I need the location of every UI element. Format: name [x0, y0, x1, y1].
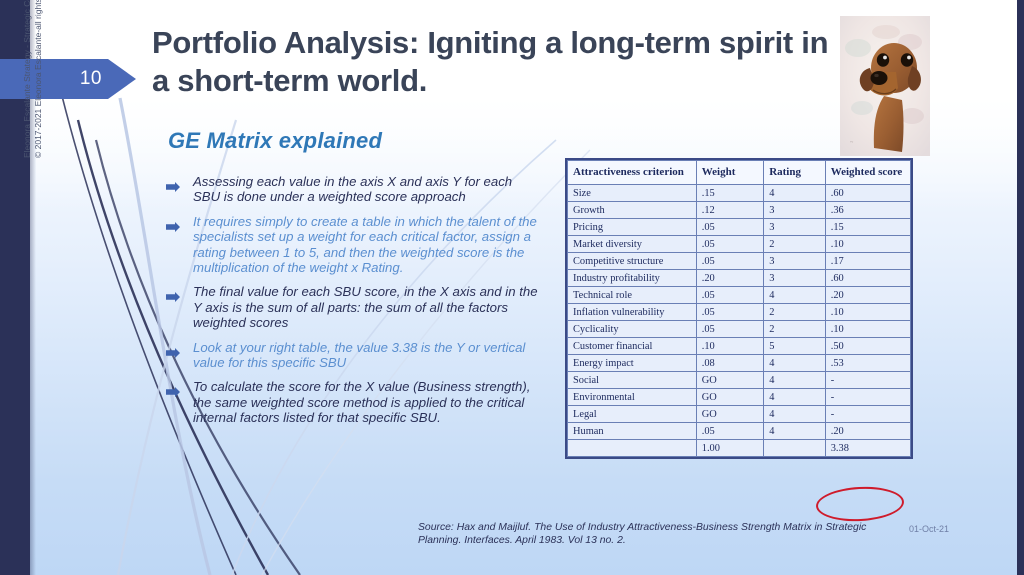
cell-rating: 2 — [764, 304, 826, 321]
cell-criterion: Inflation vulnerability — [568, 304, 697, 321]
cell-weighted-score: .20 — [825, 287, 910, 304]
copyright-line-2: © 2017-2021 Eleonora Escalante-all right… — [33, 0, 44, 158]
cell-rating: 3 — [764, 270, 826, 287]
cell-rating: 4 — [764, 287, 826, 304]
cell-rating — [764, 440, 826, 457]
table-row: Industry profitability.203.60 — [568, 270, 911, 287]
cell-criterion: Size — [568, 185, 697, 202]
cell-weight: GO — [696, 372, 763, 389]
cell-rating: 3 — [764, 253, 826, 270]
table-row: Competitive structure.053.17 — [568, 253, 911, 270]
cell-weight: .05 — [696, 287, 763, 304]
cell-weighted-score: .10 — [825, 236, 910, 253]
cell-rating: 3 — [764, 219, 826, 236]
column-header-criterion: Attractiveness criterion — [568, 161, 697, 185]
table-row: SocialGO4- — [568, 372, 911, 389]
cell-weight: .15 — [696, 185, 763, 202]
cell-rating: 5 — [764, 338, 826, 355]
cell-weighted-score: .36 — [825, 202, 910, 219]
bullet-arrow-icon — [166, 384, 180, 394]
cell-weighted-score: .20 — [825, 423, 910, 440]
cell-criterion — [568, 440, 697, 457]
date-stamp: 01-Oct-21 — [909, 524, 949, 534]
slide-number-label: 10 — [80, 68, 102, 90]
cell-criterion: Environmental — [568, 389, 697, 406]
table-row: Human.054.20 — [568, 423, 911, 440]
cell-weighted-score: .50 — [825, 338, 910, 355]
cell-criterion: Technical role — [568, 287, 697, 304]
column-header-weight: Weight — [696, 161, 763, 185]
list-item: The final value for each SBU score, in t… — [166, 284, 538, 330]
bullet-arrow-icon — [166, 179, 180, 189]
cell-weighted-score: .15 — [825, 219, 910, 236]
cell-weight: .10 — [696, 338, 763, 355]
copyright-line-1: Eleonora Escalante Strategy - Strategic … — [22, 0, 33, 158]
bullet-arrow-icon — [166, 219, 180, 229]
table-row: Growth.123.36 — [568, 202, 911, 219]
cell-criterion: Market diversity — [568, 236, 697, 253]
cell-criterion: Cyclicality — [568, 321, 697, 338]
cell-criterion: Human — [568, 423, 697, 440]
table-row: Market diversity.052.10 — [568, 236, 911, 253]
cell-weight: .05 — [696, 253, 763, 270]
slide-number-badge: 10 — [0, 59, 136, 99]
list-item-label: To calculate the score for the X value (… — [193, 379, 538, 425]
cell-criterion: Competitive structure — [568, 253, 697, 270]
highlight-ellipse-total-score — [815, 485, 905, 524]
page-title: Portfolio Analysis: Igniting a long-term… — [152, 24, 832, 100]
cell-criterion: Social — [568, 372, 697, 389]
table-row: Cyclicality.052.10 — [568, 321, 911, 338]
cell-weight: .05 — [696, 219, 763, 236]
cell-rating: 4 — [764, 372, 826, 389]
cell-weight: 1.00 — [696, 440, 763, 457]
cell-weighted-score: - — [825, 406, 910, 423]
table-row: LegalGO4- — [568, 406, 911, 423]
list-item-label: Assessing each value in the axis X and a… — [193, 174, 538, 205]
cell-weight: .08 — [696, 355, 763, 372]
list-item-label: Look at your right table, the value 3.38… — [193, 340, 538, 371]
cell-weight: .12 — [696, 202, 763, 219]
cell-rating: 4 — [764, 406, 826, 423]
cell-weight: GO — [696, 389, 763, 406]
cell-rating: 3 — [764, 202, 826, 219]
bullet-list: Assessing each value in the axis X and a… — [166, 174, 538, 435]
table-row: Size.154.60 — [568, 185, 911, 202]
cell-rating: 4 — [764, 185, 826, 202]
cell-criterion: Growth — [568, 202, 697, 219]
cell-rating: 4 — [764, 389, 826, 406]
cell-weight: .20 — [696, 270, 763, 287]
table-row: Inflation vulnerability.052.10 — [568, 304, 911, 321]
list-item-label: It requires simply to create a table in … — [193, 214, 538, 276]
column-header-weighted-score: Weighted score — [825, 161, 910, 185]
cell-criterion: Pricing — [568, 219, 697, 236]
cell-weighted-score: .60 — [825, 185, 910, 202]
list-item: Look at your right table, the value 3.38… — [166, 340, 538, 371]
column-header-rating: Rating — [764, 161, 826, 185]
cell-rating: 2 — [764, 321, 826, 338]
table-row: Customer financial.105.50 — [568, 338, 911, 355]
cell-weighted-score: - — [825, 389, 910, 406]
cell-weighted-score: .17 — [825, 253, 910, 270]
bullet-arrow-icon — [166, 345, 180, 355]
cell-criterion: Industry profitability — [568, 270, 697, 287]
bullet-arrow-icon — [166, 289, 180, 299]
cell-rating: 4 — [764, 423, 826, 440]
dog-illustration: ~ — [840, 16, 930, 156]
cell-weighted-score: .10 — [825, 321, 910, 338]
cell-weighted-score: .53 — [825, 355, 910, 372]
table-row: Energy impact.084.53 — [568, 355, 911, 372]
list-item-label: The final value for each SBU score, in t… — [193, 284, 538, 330]
cell-rating: 2 — [764, 236, 826, 253]
cell-weighted-score: .10 — [825, 304, 910, 321]
table-header-row: Attractiveness criterion Weight Rating W… — [568, 161, 911, 185]
cell-weight: .05 — [696, 236, 763, 253]
cell-weight: GO — [696, 406, 763, 423]
cell-weighted-score: .60 — [825, 270, 910, 287]
table-row: Pricing.053.15 — [568, 219, 911, 236]
cell-weighted-score: - — [825, 372, 910, 389]
right-edge-bar — [1017, 0, 1024, 575]
table-row: 1.003.38 — [568, 440, 911, 457]
attractiveness-score-table: Attractiveness criterion Weight Rating W… — [565, 158, 913, 459]
list-item: Assessing each value in the axis X and a… — [166, 174, 538, 205]
list-item: To calculate the score for the X value (… — [166, 379, 538, 425]
cell-weighted-score: 3.38 — [825, 440, 910, 457]
source-citation: Source: Hax and Maijluf. The Use of Indu… — [418, 521, 888, 547]
copyright-vertical-text: Eleonora Escalante Strategy - Strategic … — [22, 0, 44, 158]
table-row: Technical role.054.20 — [568, 287, 911, 304]
page-subtitle: GE Matrix explained — [168, 128, 382, 154]
cell-weight: .05 — [696, 321, 763, 338]
list-item: It requires simply to create a table in … — [166, 214, 538, 276]
cell-criterion: Energy impact — [568, 355, 697, 372]
cell-rating: 4 — [764, 355, 826, 372]
cell-weight: .05 — [696, 304, 763, 321]
cell-weight: .05 — [696, 423, 763, 440]
table-row: EnvironmentalGO4- — [568, 389, 911, 406]
cell-criterion: Legal — [568, 406, 697, 423]
presentation-slide: 10 Eleonora Escalante Strategy - Strateg… — [0, 0, 1024, 575]
cell-criterion: Customer financial — [568, 338, 697, 355]
